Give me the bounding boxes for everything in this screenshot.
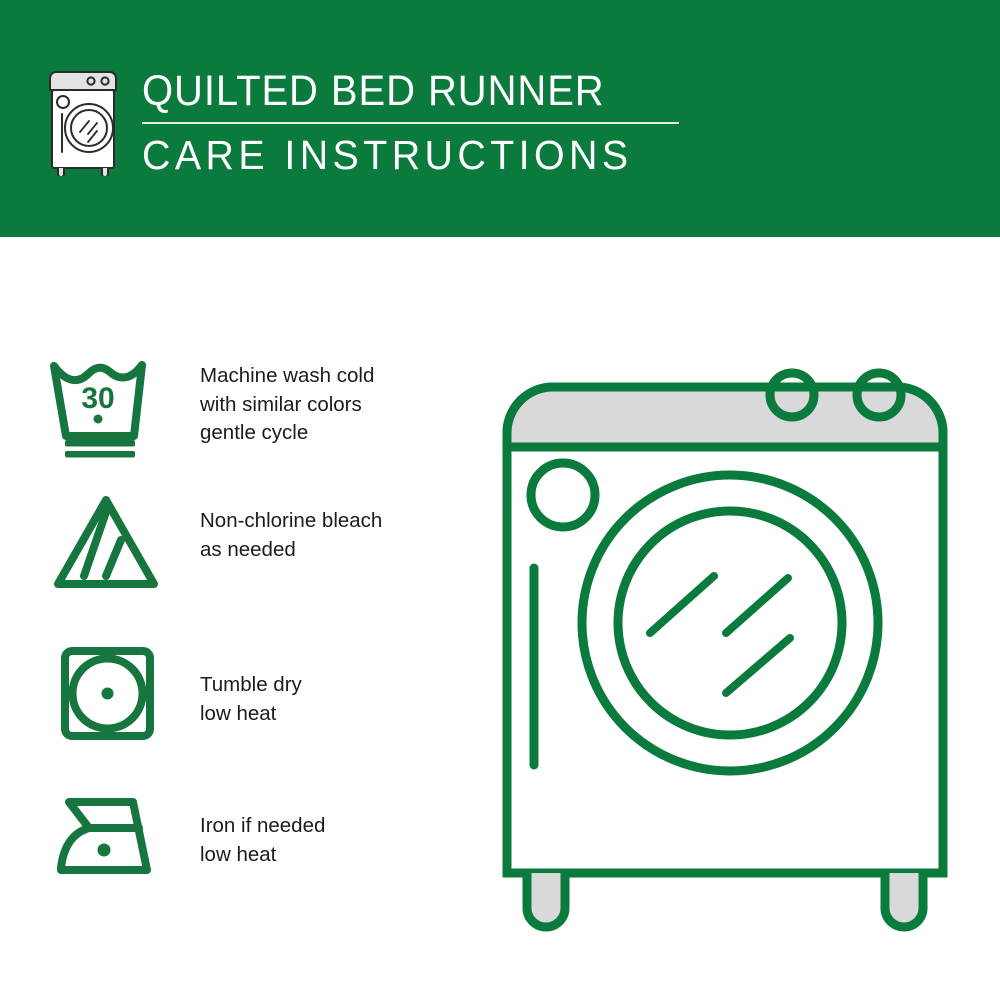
header-banner: QUILTED BED RUNNER CARE INSTRUCTIONS — [0, 0, 1000, 237]
care-row-bleach: Non-chlorine bleach as needed — [0, 492, 440, 612]
svg-text:30: 30 — [81, 382, 114, 415]
header-title-block: QUILTED BED RUNNER CARE INSTRUCTIONS — [142, 66, 702, 179]
machine-leg — [527, 873, 565, 927]
machine-leg — [885, 873, 923, 927]
care-row-tumble-dry: Tumble dry low heat — [0, 646, 440, 766]
non-chlorine-bleach-triangle-icon — [50, 492, 162, 592]
wash-tub-30-gentle-icon: 30 — [48, 352, 163, 462]
front-load-washing-machine-illustration — [490, 333, 960, 933]
washing-machine-icon — [44, 64, 128, 176]
iron-low-heat-icon — [55, 790, 165, 880]
care-row-wash: 30 Machine wash cold with similar colors… — [0, 352, 440, 472]
title-divider — [142, 122, 679, 124]
care-instructions-infographic: QUILTED BED RUNNER CARE INSTRUCTIONS 30 … — [0, 0, 1000, 1000]
care-row-iron: Iron if needed low heat — [0, 790, 440, 910]
page-title: QUILTED BED RUNNER — [142, 66, 663, 116]
care-text-wash: Machine wash cold with similar colors ge… — [200, 362, 440, 448]
care-text-bleach: Non-chlorine bleach as needed — [200, 507, 440, 564]
page-subtitle: CARE INSTRUCTIONS — [142, 131, 680, 179]
care-text-tumble-dry: Tumble dry low heat — [200, 671, 440, 728]
care-text-iron: Iron if needed low heat — [200, 812, 440, 869]
tumble-dry-low-heat-icon — [60, 646, 155, 741]
